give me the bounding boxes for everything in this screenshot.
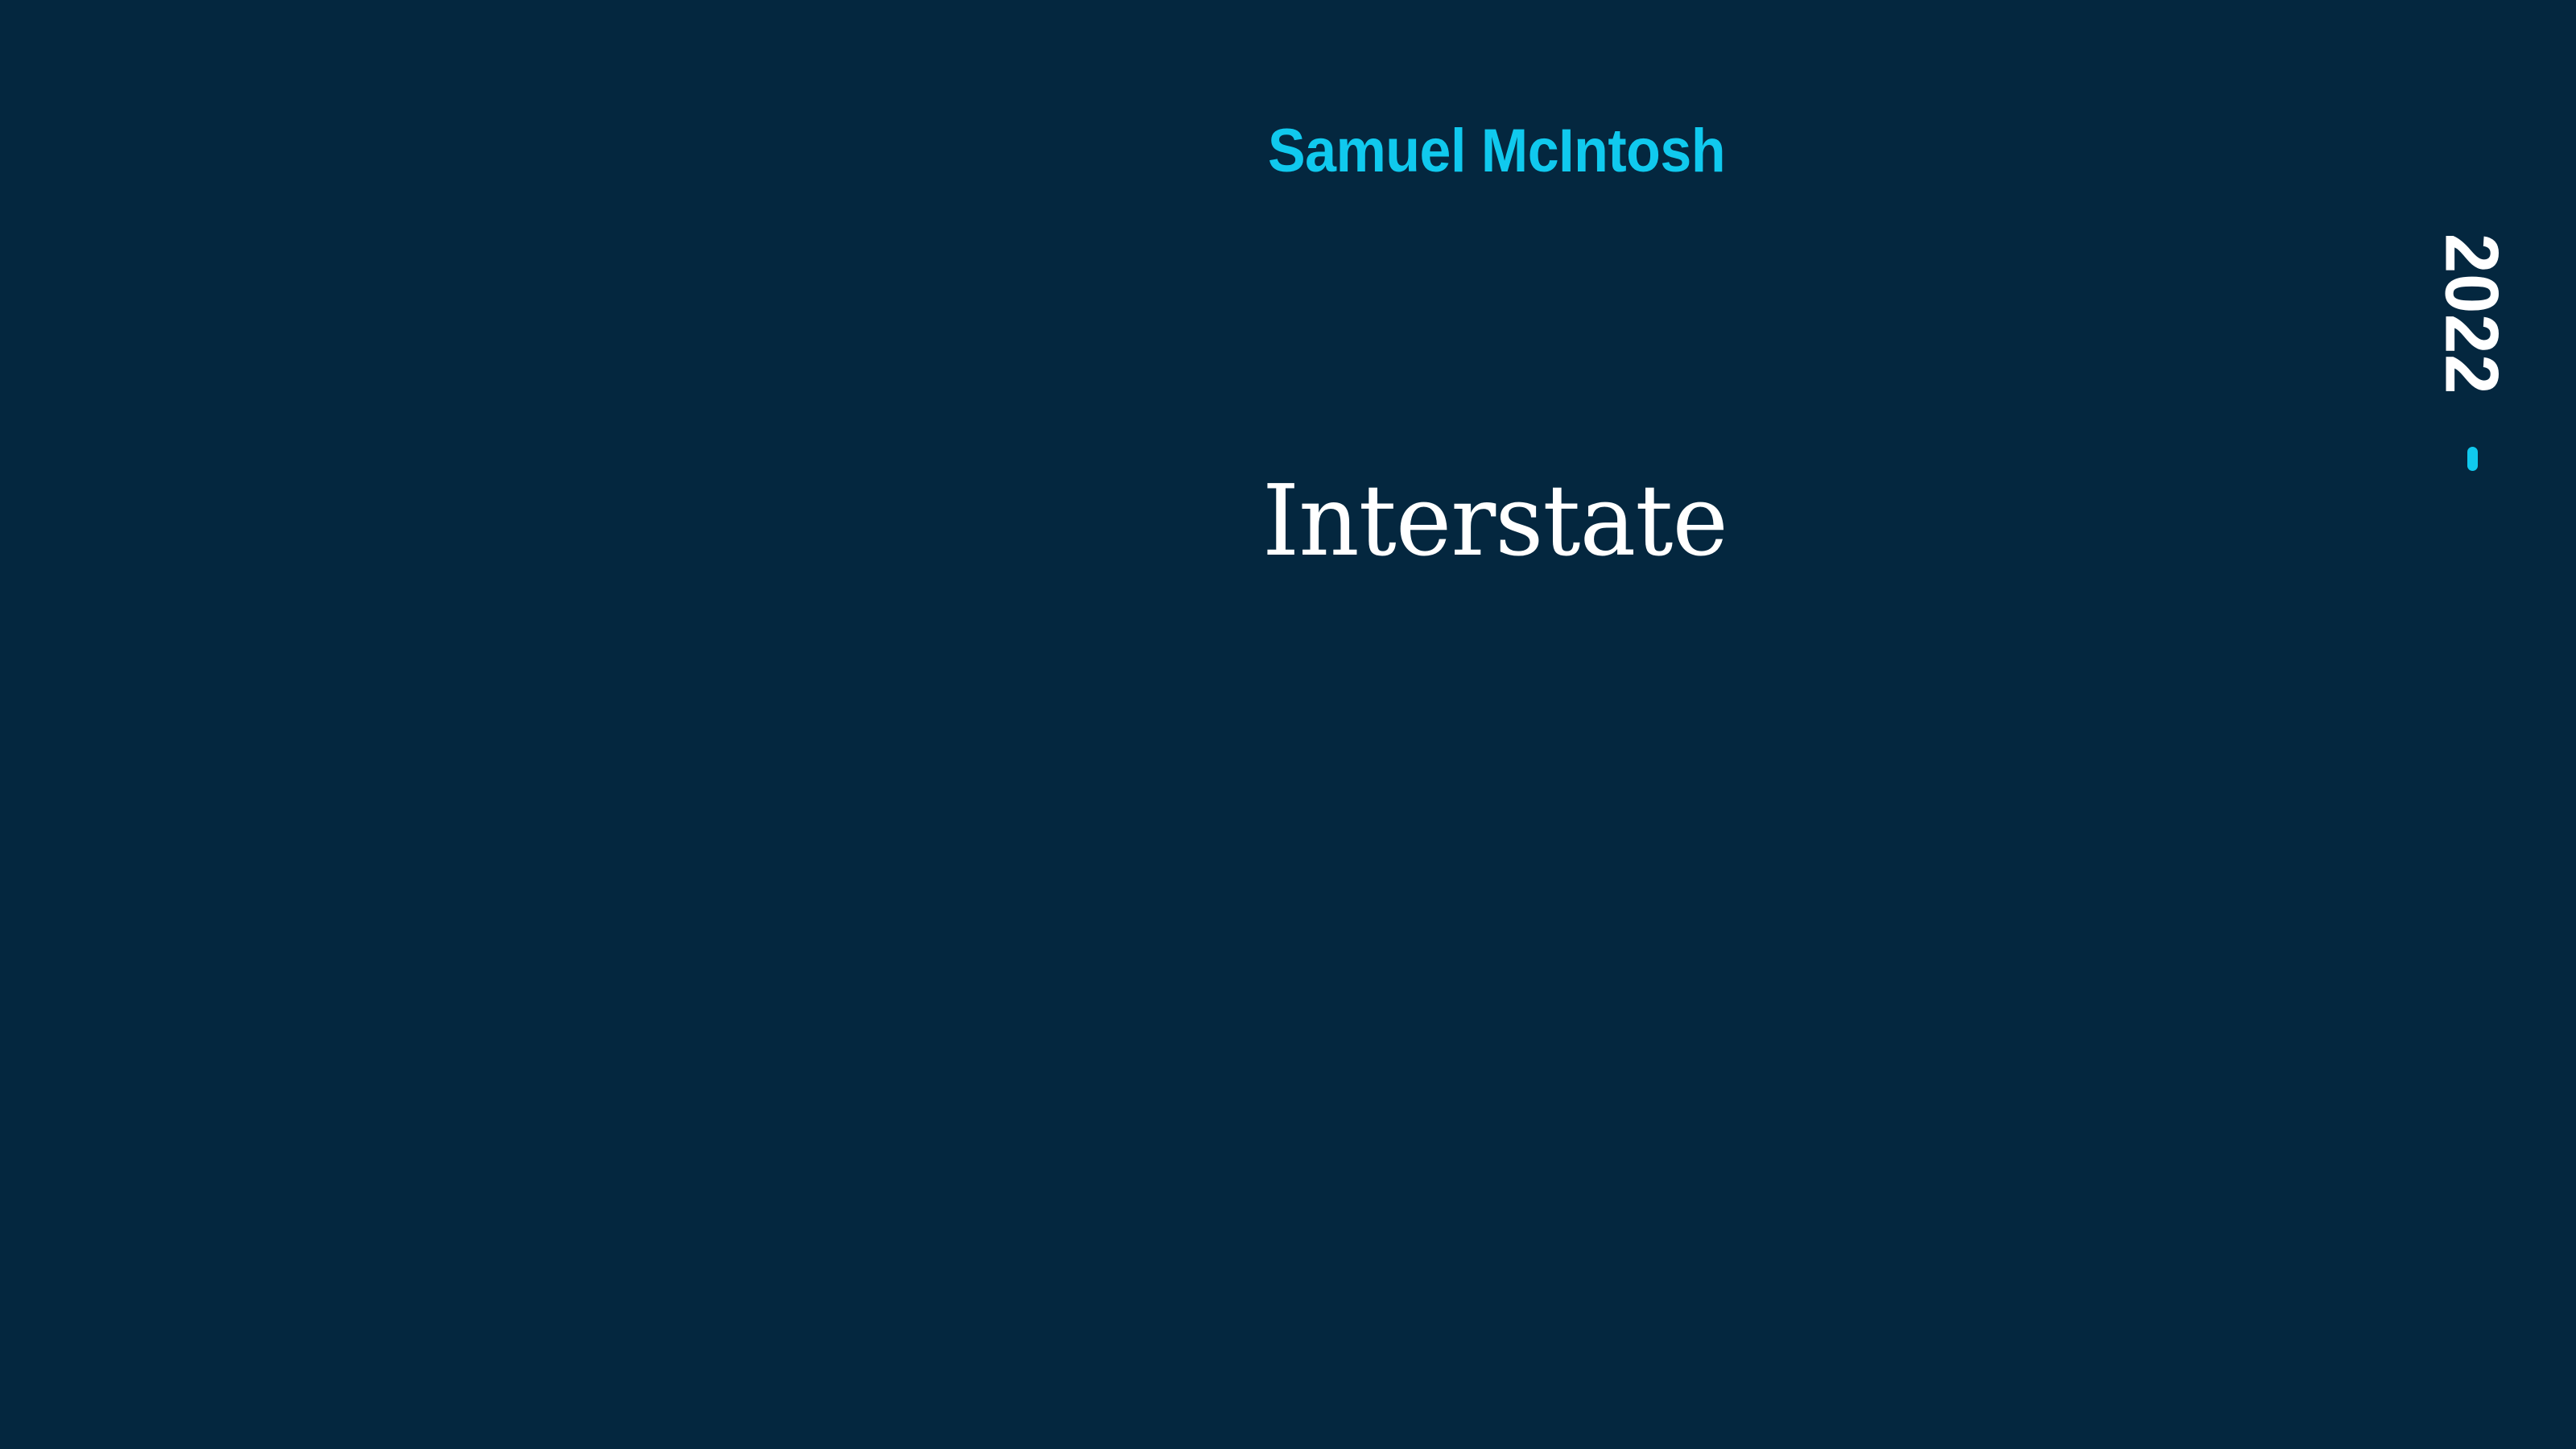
page-title: Interstate — [1262, 472, 1728, 570]
accent-dash-mark — [2467, 447, 2478, 471]
year-label: 2022 — [2436, 233, 2508, 394]
author-byline: Samuel McIntosh — [1268, 121, 1725, 182]
poster-canvas: Samuel McIntosh Interstate 2022 — [0, 0, 2576, 1449]
year-rail: 2022 — [2436, 233, 2508, 471]
